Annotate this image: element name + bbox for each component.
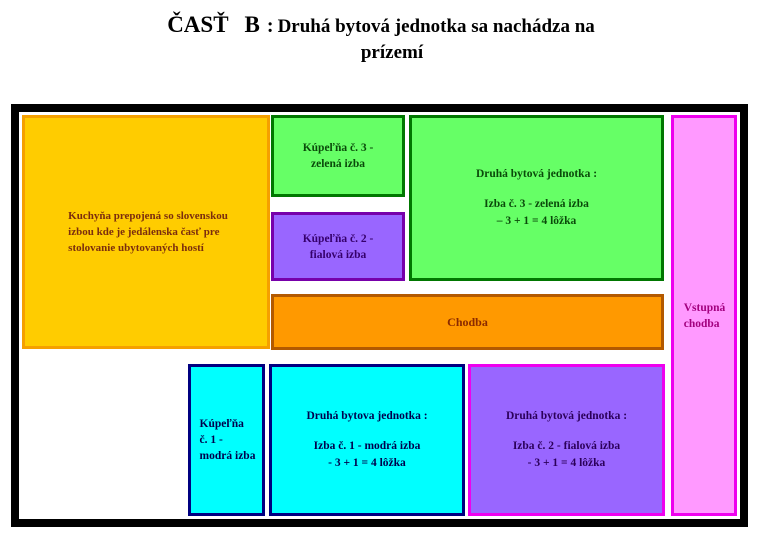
room-green-heading: Druhá bytová jednotka : — [476, 166, 597, 183]
room-bathroom-3[interactable]: Kúpeľňa č. 3 - zelená izba — [271, 115, 405, 197]
room-purple-text: Druhá bytová jednotka :Izba č. 2 - fialo… — [502, 408, 631, 472]
room-green-detail: Izba č. 3 - zelená izba – 3 + 1 = 4 lôžk… — [484, 198, 589, 227]
room-bathroom-2-label: Kúpeľňa č. 2 - fialová izba — [299, 231, 378, 263]
room-entry-hall-label: Vstupná chodba — [679, 300, 730, 332]
page-title-line-1: ČASŤB:Druhá bytová jednotka sa nachádza … — [0, 12, 762, 40]
part-label: ČASŤ — [167, 12, 228, 37]
room-green-text: Druhá bytová jednotka :Izba č. 3 - zelen… — [472, 166, 601, 230]
room-purple-heading: Druhá bytová jednotka : — [506, 408, 627, 425]
floorplan-canvas: Kuchyňa prepojená so slovenskou izbou kd… — [19, 112, 740, 519]
room-purple-detail: Izba č. 2 - fialová izba - 3 + 1 = 4 lôž… — [513, 440, 620, 469]
room-kitchen[interactable]: Kuchyňa prepojená so slovenskou izbou kd… — [22, 115, 270, 349]
room-blue-detail: Izba č. 1 - modrá izba - 3 + 1 = 4 lôžka — [314, 440, 421, 469]
room-corridor-label: Chodba — [443, 315, 492, 330]
page-title: ČASŤB:Druhá bytová jednotka sa nachádza … — [0, 12, 762, 66]
room-blue[interactable]: Druhá bytova jednotka :Izba č. 1 - modrá… — [269, 364, 465, 516]
room-entry-hall[interactable]: Vstupná chodba — [671, 115, 737, 516]
title-colon: : — [260, 15, 278, 37]
room-purple[interactable]: Druhá bytová jednotka :Izba č. 2 - fialo… — [468, 364, 665, 516]
room-green[interactable]: Druhá bytová jednotka :Izba č. 3 - zelen… — [409, 115, 664, 281]
title-main-text: Druhá bytová jednotka sa nachádza na — [278, 16, 595, 37]
room-bathroom-3-label: Kúpeľňa č. 3 - zelená izba — [299, 140, 378, 172]
room-corridor[interactable]: Chodba — [271, 294, 664, 350]
room-bathroom-1[interactable]: Kúpeľňa č. 1 - modrá izba — [188, 364, 265, 516]
room-blue-heading: Druhá bytova jednotka : — [306, 408, 427, 425]
page-title-line-2: prízemí — [0, 40, 762, 66]
room-kitchen-label: Kuchyňa prepojená so slovenskou izbou kd… — [60, 208, 232, 256]
room-blue-text: Druhá bytova jednotka :Izba č. 1 - modrá… — [302, 408, 431, 472]
room-bathroom-2[interactable]: Kúpeľňa č. 2 - fialová izba — [271, 212, 405, 281]
room-bathroom-1-label: Kúpeľňa č. 1 - modrá izba — [194, 416, 260, 464]
floorplan-frame: Kuchyňa prepojená so slovenskou izbou kd… — [11, 104, 748, 527]
part-letter: B — [229, 12, 260, 37]
